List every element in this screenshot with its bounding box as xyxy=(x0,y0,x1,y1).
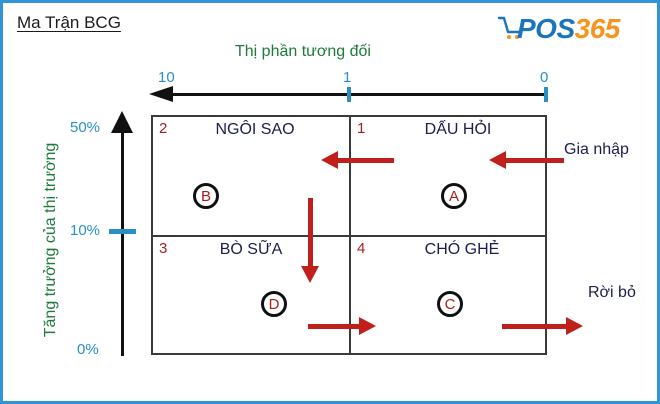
flow-arrow-star-to-cow-line xyxy=(308,198,313,268)
product-marker-a: A xyxy=(441,183,467,209)
x-axis-tick-label-1: 1 xyxy=(343,69,351,86)
flow-arrow-star-to-cow-head-icon xyxy=(301,266,319,283)
flow-arrow-cow-to-dog-line xyxy=(308,324,360,329)
label-entry: Gia nhập xyxy=(564,141,629,159)
flow-arrow-exit-line xyxy=(502,324,567,329)
y-axis-title: Tăng trưởng của thị trường xyxy=(42,130,60,350)
flow-arrow-exit-head-icon xyxy=(566,317,583,335)
quadrant-question-mark: 1 DẤU HỎI A xyxy=(351,117,545,235)
y-axis-tick-label-10: 10% xyxy=(70,222,100,239)
y-axis-tick-mark-10 xyxy=(109,229,136,234)
quadrant-cash-cow: 3 BÒ SỮA D xyxy=(153,237,349,353)
flow-arrow-question-to-star-line xyxy=(338,158,394,163)
product-marker-c: C xyxy=(437,291,463,317)
bcg-matrix-diagram: Ma Trận BCG POS365 Thị phần tương đối Tă… xyxy=(0,0,660,404)
y-axis-tick-label-0: 0% xyxy=(77,341,99,358)
flow-arrow-question-to-star-head-icon xyxy=(321,151,338,169)
x-axis-arrowhead-icon xyxy=(149,86,173,102)
logo-wordmark: POS365 xyxy=(517,13,620,45)
y-axis-tick-label-50: 50% xyxy=(70,119,100,136)
x-axis-tick-mark-1 xyxy=(347,87,351,102)
x-axis-line xyxy=(171,93,547,96)
quadrant-dog: 4 CHÓ GHẺ C xyxy=(351,237,545,353)
quadrant-star: 2 NGÔI SAO B xyxy=(153,117,349,235)
x-axis-title: Thị phần tương đối xyxy=(235,43,371,61)
matrix-grid: 2 NGÔI SAO B 1 DẤU HỎI A 3 BÒ SỮA D 4 CH… xyxy=(151,115,547,355)
pos365-logo: POS365 xyxy=(491,11,651,51)
product-marker-d: D xyxy=(261,291,287,317)
quadrant-title: CHÓ GHẺ xyxy=(365,241,559,259)
y-axis-arrowhead-icon xyxy=(111,111,133,133)
y-axis-line xyxy=(121,129,124,356)
logo-text-pos: POS xyxy=(517,13,575,44)
flow-arrow-entry-head-icon xyxy=(489,151,506,169)
quadrant-title: DẤU HỎI xyxy=(361,121,555,139)
flow-arrow-cow-to-dog-head-icon xyxy=(359,317,376,335)
flow-arrow-entry-line xyxy=(506,158,564,163)
product-marker-b: B xyxy=(193,183,219,209)
x-axis-tick-label-0: 0 xyxy=(540,69,548,86)
logo-text-365: 365 xyxy=(575,13,620,44)
page-title: Ma Trận BCG xyxy=(17,13,121,33)
x-axis-tick-label-10: 10 xyxy=(158,69,175,86)
quadrant-title: NGÔI SAO xyxy=(157,121,353,139)
x-axis-tick-mark-0 xyxy=(544,87,548,102)
label-exit: Rời bỏ xyxy=(588,284,636,302)
quadrant-title: BÒ SỮA xyxy=(153,241,349,259)
